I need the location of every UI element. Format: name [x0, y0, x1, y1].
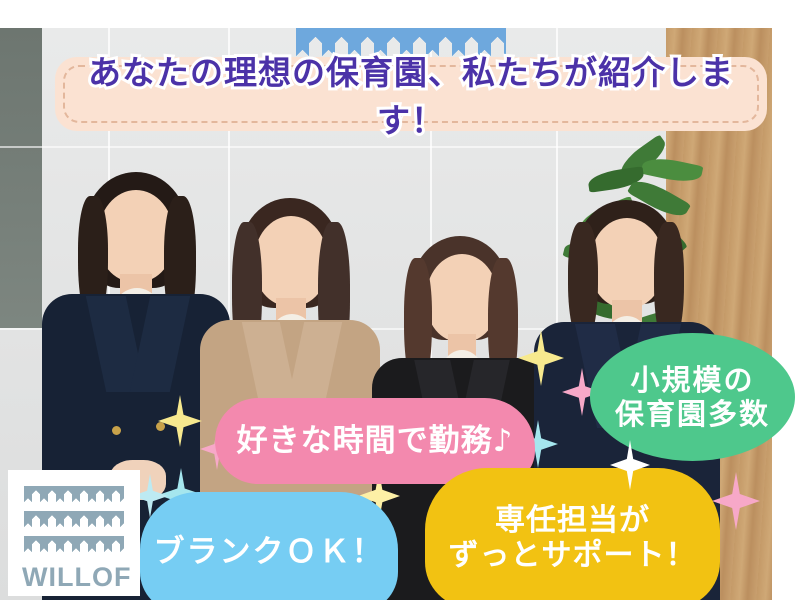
- right-white-margin: [772, 28, 786, 600]
- logo-wordmark: WILLOF: [22, 562, 131, 593]
- zigzag-mark-icon: [24, 486, 124, 552]
- headline-banner: あなたの理想の保育園、私たちが紹介します！: [55, 57, 767, 131]
- bubble-yellow-line1: 専任担当が: [449, 503, 697, 538]
- headline-text: あなたの理想の保育園、私たちが紹介します！: [55, 46, 767, 142]
- wall-dark-panel: [0, 28, 42, 328]
- bubble-pink-text: 好きな時間で勤務♪: [237, 423, 514, 460]
- bubble-dedicated-support[interactable]: 専任担当が ずっとサポート！: [425, 468, 720, 600]
- bubble-green-line2: 保育園多数: [615, 397, 770, 431]
- bubble-blue-text: ブランクＯＫ！: [154, 534, 385, 571]
- ad-banner-canvas: WILLOF: [0, 0, 800, 600]
- bubble-yellow-line2: ずっとサポート！: [449, 538, 697, 573]
- bubble-blank-ok[interactable]: ブランクＯＫ！: [140, 492, 398, 600]
- willof-logo-badge[interactable]: WILLOF: [8, 470, 140, 596]
- bubble-small-nurseries[interactable]: 小規模の 保育園多数: [590, 333, 795, 461]
- bubble-green-line1: 小規模の: [615, 363, 770, 397]
